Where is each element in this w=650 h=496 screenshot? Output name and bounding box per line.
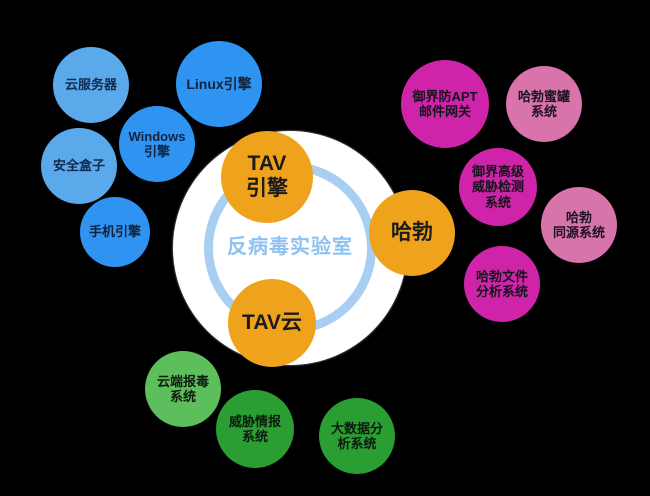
node-tav-engine[interactable]: TAV 引擎 [221,131,313,223]
node-label-windows-engine: Windows 引擎 [121,129,193,160]
node-label-tav-cloud: TAV云 [230,311,314,336]
node-threat-intel[interactable]: 威胁情报 系统 [216,390,294,468]
node-label-cloud-server: 云服务器 [55,77,127,92]
node-apt-mail-gateway[interactable]: 御界防APT 邮件网关 [401,60,489,148]
node-label-mobile-engine: 手机引擎 [82,224,148,239]
node-label-threat-intel: 威胁情报 系统 [218,414,292,445]
node-windows-engine[interactable]: Windows 引擎 [119,106,195,182]
node-cloud-av-report[interactable]: 云端报毒 系统 [145,351,221,427]
node-security-box[interactable]: 安全盒子 [41,128,117,204]
node-label-cloud-av-report: 云端报毒 系统 [147,374,219,405]
node-label-advanced-threat: 御界高级 威胁检测 系统 [461,164,535,210]
diagram-canvas: 反病毒实验室 云服务器Linux引擎Windows 引擎安全盒子手机引擎御界防A… [0,0,650,496]
node-label-big-data-analysis: 大数据分 析系统 [321,421,393,452]
node-label-hubble: 哈勃 [371,221,453,246]
node-mobile-engine[interactable]: 手机引擎 [80,197,150,267]
node-label-homology-system: 哈勃 同源系统 [543,210,615,241]
node-label-file-analysis: 哈勃文件 分析系统 [466,269,538,300]
node-big-data-analysis[interactable]: 大数据分 析系统 [319,398,395,474]
node-homology-system[interactable]: 哈勃 同源系统 [541,187,617,263]
node-tav-cloud[interactable]: TAV云 [228,279,316,367]
node-label-honeypot-system: 哈勃蜜罐 系统 [508,89,580,120]
node-label-linux-engine: Linux引擎 [178,76,260,93]
node-cloud-server[interactable]: 云服务器 [53,47,129,123]
node-label-security-box: 安全盒子 [43,158,115,173]
antivirus-lab-label: 反病毒实验室 [200,237,380,257]
node-linux-engine[interactable]: Linux引擎 [176,41,262,127]
node-label-tav-engine: TAV 引擎 [223,152,311,202]
node-label-apt-mail-gateway: 御界防APT 邮件网关 [403,89,487,120]
node-advanced-threat[interactable]: 御界高级 威胁检测 系统 [459,148,537,226]
node-honeypot-system[interactable]: 哈勃蜜罐 系统 [506,66,582,142]
node-hubble[interactable]: 哈勃 [369,190,455,276]
node-file-analysis[interactable]: 哈勃文件 分析系统 [464,246,540,322]
